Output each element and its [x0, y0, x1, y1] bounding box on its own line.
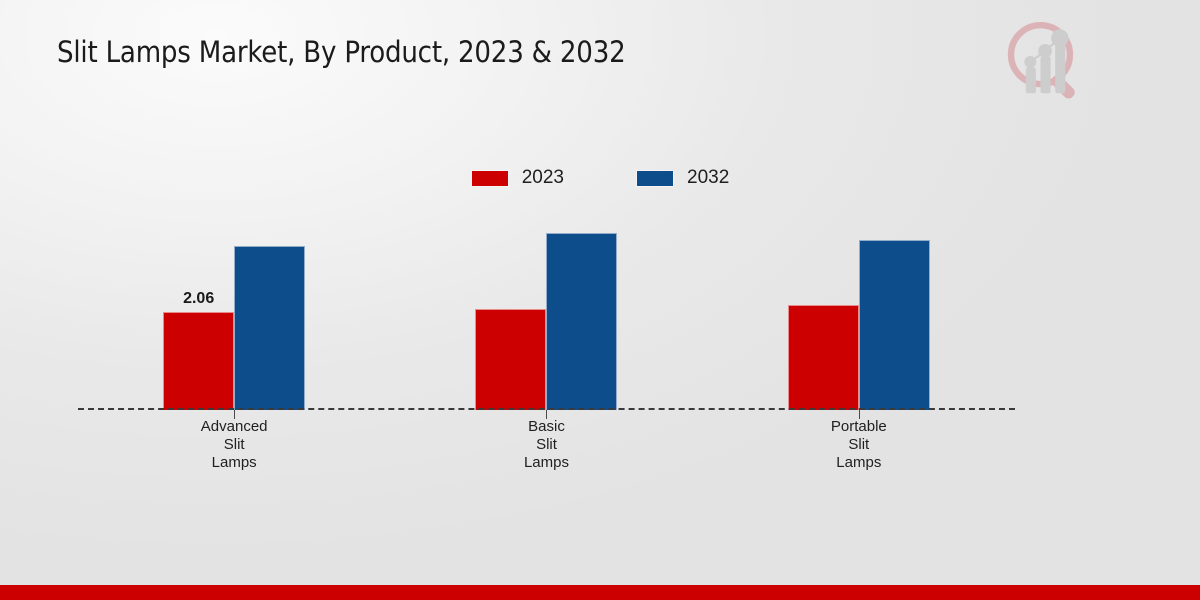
bar-2032[interactable] [546, 233, 617, 410]
page-title: Slit Lamps Market, By Product, 2023 & 20… [57, 34, 626, 70]
category-label-line: Slit [390, 436, 702, 454]
category-label-line: Lamps [78, 454, 390, 472]
bar-2023[interactable] [788, 305, 859, 410]
chart-canvas: Slit Lamps Market, By Product, 2023 & 20… [0, 0, 1200, 600]
bar-2032[interactable] [234, 246, 305, 410]
company-logo-watermark [1000, 16, 1092, 108]
bar-value-label: 2.06 [183, 290, 214, 308]
legend-label-2023: 2023 [522, 167, 564, 189]
bar-group: PortableSlitLamps [703, 210, 1015, 410]
bar-2023[interactable]: 2.06 [163, 312, 234, 410]
bar-groups: 2.06AdvancedSlitLampsBasicSlitLampsPorta… [78, 210, 1015, 410]
legend-item-2032[interactable]: 2032 [636, 167, 729, 189]
category-label-line: Slit [703, 436, 1015, 454]
bar-2023[interactable] [475, 309, 546, 410]
bar-group: 2.06AdvancedSlitLamps [78, 210, 390, 410]
legend-swatch-2023 [471, 170, 509, 187]
category-label-line: Advanced [78, 418, 390, 436]
category-label-line: Portable [703, 418, 1015, 436]
bar-pair [703, 210, 1015, 410]
chart-legend: 2023 2032 [0, 167, 1200, 189]
x-axis-baseline [78, 408, 1015, 410]
legend-item-2023[interactable]: 2023 [471, 167, 564, 189]
legend-label-2032: 2032 [687, 167, 729, 189]
x-axis-category-label: BasicSlitLamps [390, 418, 702, 472]
category-label-line: Slit [78, 436, 390, 454]
category-label-line: Lamps [703, 454, 1015, 472]
category-label-line: Basic [390, 418, 702, 436]
legend-swatch-2032 [636, 170, 674, 187]
bar-pair: 2.06 [78, 210, 390, 410]
footer-accent-bar [0, 585, 1200, 600]
category-label-line: Lamps [390, 454, 702, 472]
bar-2032[interactable] [859, 240, 930, 410]
x-axis-category-label: AdvancedSlitLamps [78, 418, 390, 472]
x-axis-category-label: PortableSlitLamps [703, 418, 1015, 472]
plot-area: 2.06AdvancedSlitLampsBasicSlitLampsPorta… [78, 210, 1015, 410]
bar-pair [390, 210, 702, 410]
bar-group: BasicSlitLamps [390, 210, 702, 410]
